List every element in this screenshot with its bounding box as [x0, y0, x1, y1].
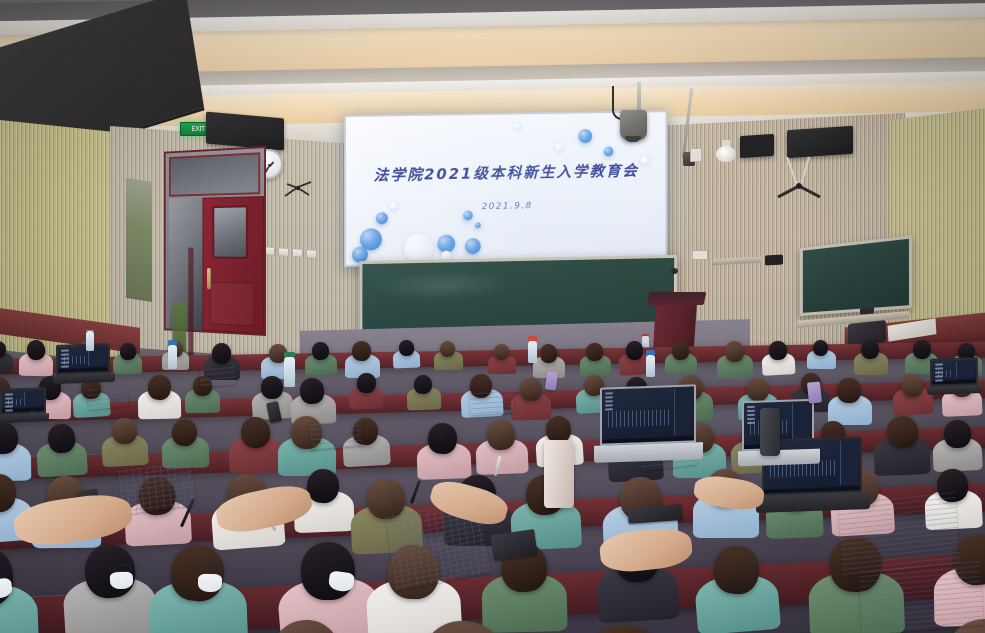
- laptop-icon: [747, 410, 755, 412]
- slide-molecule-sphere: [604, 146, 614, 156]
- laptop-icon: [935, 363, 943, 365]
- water-bottle: [646, 355, 655, 377]
- wall-socket[interactable]: [692, 250, 708, 260]
- slide-molecule-sphere: [578, 129, 592, 143]
- handout-paper: [859, 561, 984, 633]
- smartphone: [807, 381, 822, 403]
- student-head: [112, 418, 138, 445]
- door-transom-window: [169, 152, 260, 196]
- laptop-desktop-icons: [605, 392, 613, 410]
- water-bottle: [86, 331, 94, 351]
- water-bottle: [168, 345, 177, 369]
- chalkboard-right: [800, 235, 912, 316]
- podium-mic-stem: [674, 272, 676, 294]
- laptop-waveform: [938, 370, 954, 378]
- student-head: [585, 343, 603, 362]
- ceiling-speaker-right-secondary: [740, 134, 774, 158]
- entrance-door[interactable]: [164, 146, 266, 336]
- ceiling-speaker-left: [206, 112, 284, 151]
- student-head: [944, 420, 971, 449]
- laptop-side-panel: [674, 388, 692, 435]
- student-head: [300, 377, 325, 404]
- podium-microphone: [671, 268, 678, 274]
- handout-paper: [470, 390, 515, 415]
- eyeglasses: [741, 564, 756, 571]
- laptop-icon: [605, 396, 613, 398]
- laptop-waveform: [64, 356, 86, 365]
- door-opening: [169, 198, 202, 331]
- window-greenery-left: [126, 178, 152, 302]
- wall-mount-bracket: [283, 178, 313, 200]
- laptop-waveform: [8, 399, 22, 406]
- student-head: [119, 343, 136, 361]
- laptop-icon: [605, 400, 613, 402]
- student-head: [625, 341, 643, 360]
- eyeglasses: [114, 564, 131, 572]
- laptop-side-panel: [24, 391, 42, 406]
- clock-center-pin: [268, 164, 271, 167]
- bottle-cap: [86, 330, 94, 331]
- laptop-icon: [5, 409, 13, 411]
- student-head: [398, 339, 414, 356]
- laptop-screen: [56, 343, 110, 375]
- slide-title: 法学院2021级本科新生入学教育会: [346, 159, 665, 186]
- handout-paper: [200, 366, 237, 387]
- camera-dome-icon: [716, 146, 736, 162]
- slide-molecule-sphere: [475, 222, 481, 228]
- laptop-icon: [61, 365, 69, 367]
- student-head: [520, 378, 542, 401]
- laptop-icon: [747, 406, 755, 408]
- student-head: [768, 340, 786, 359]
- thermos-flask: [544, 440, 574, 508]
- laptop-icon: [747, 414, 755, 416]
- laptop-icon: [605, 404, 613, 406]
- handout-paper: [309, 420, 362, 450]
- student-head: [837, 378, 862, 404]
- ceiling-speaker-right: [787, 126, 853, 159]
- student-head: [912, 340, 931, 360]
- door-handle[interactable]: [207, 268, 211, 289]
- light-switch[interactable]: [278, 247, 289, 257]
- laptop-side-panel: [792, 403, 810, 442]
- eyeglasses: [203, 566, 221, 574]
- laptop-taskbar: [58, 367, 108, 373]
- laptop-waveform: [608, 409, 672, 427]
- student-head: [901, 373, 924, 397]
- chalkboard-glare: [372, 269, 513, 302]
- light-switch[interactable]: [306, 249, 317, 259]
- laptop-screen: [600, 384, 696, 445]
- lecture-hall-photo: EXIT: [0, 0, 985, 633]
- slide-molecule-sphere: [555, 143, 563, 151]
- laptop-icon: [747, 418, 755, 420]
- chalkboard-eraser: [860, 307, 874, 314]
- projection-slide: 法学院2021级本科新生入学教育会 2021.9.8: [344, 110, 667, 267]
- laptop-icon: [5, 393, 13, 395]
- wall-control-panel[interactable]: [690, 148, 702, 162]
- wall-hanger-bracket: [775, 155, 825, 203]
- thermos-flask: [760, 408, 780, 456]
- door-vision-panel: [212, 205, 247, 258]
- slide-molecule-sphere: [465, 238, 481, 254]
- laptop-icon: [61, 353, 69, 355]
- student-head: [301, 541, 356, 599]
- laptop-side-panel: [840, 440, 858, 485]
- podium-top-surface: [647, 292, 707, 305]
- bottle-cap: [528, 336, 537, 341]
- bottle-cap: [646, 350, 655, 355]
- laptop-icon: [61, 349, 69, 351]
- bottle-cap: [284, 352, 295, 357]
- laptop-screen: [0, 387, 46, 415]
- door-leaf[interactable]: [203, 196, 265, 334]
- bottle-cap: [168, 340, 177, 345]
- slide-molecule-sphere: [514, 122, 521, 129]
- exit-sign-label: EXIT: [191, 125, 205, 133]
- student-head: [261, 376, 283, 400]
- student-head: [366, 478, 405, 519]
- wall-device: [765, 255, 783, 266]
- laptop-side-panel: [956, 361, 974, 378]
- laptop-icon: [605, 392, 613, 394]
- security-camera: [716, 140, 736, 162]
- audience-seating: [0, 330, 985, 633]
- light-switch[interactable]: [292, 248, 303, 258]
- student-head: [356, 372, 377, 394]
- laptop-icon: [935, 379, 943, 381]
- door-lower-panel: [210, 282, 255, 327]
- water-bottle: [284, 357, 295, 387]
- water-bottle: [528, 341, 537, 363]
- laptop-screen: [930, 357, 978, 387]
- handout-paper: [87, 386, 128, 410]
